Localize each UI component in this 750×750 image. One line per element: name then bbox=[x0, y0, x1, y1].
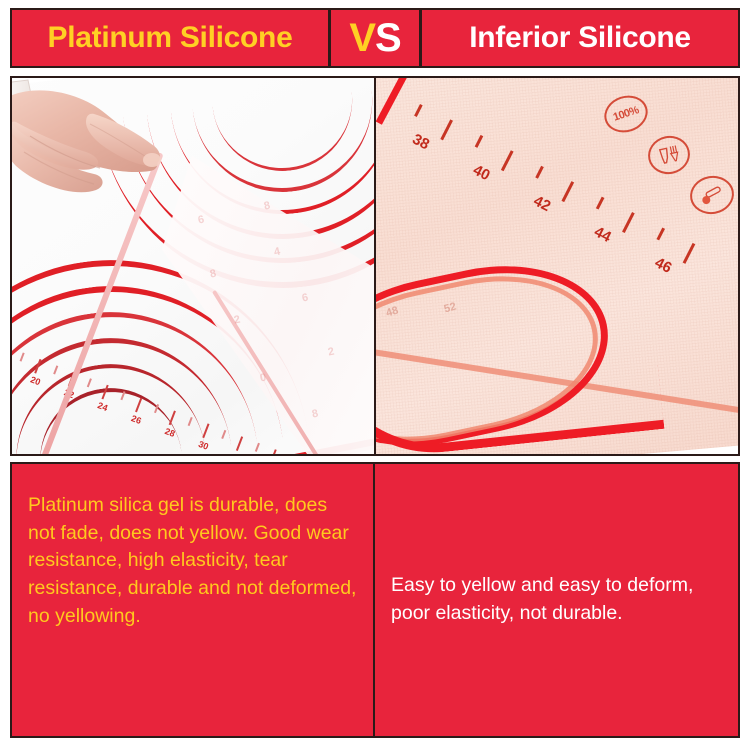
ruler-tick bbox=[34, 359, 41, 374]
hand-illustration bbox=[12, 78, 202, 228]
photo-row: 18 20 22 24 26 28 30 32 34 6 8 4 8 2 6 0… bbox=[10, 76, 740, 456]
ruler-tick bbox=[475, 135, 484, 148]
description-row: Platinum silica gel is durable, does not… bbox=[10, 462, 740, 738]
ruler-tick bbox=[202, 423, 209, 438]
ruler-tick bbox=[221, 430, 226, 439]
fork-glass-icon bbox=[656, 143, 682, 167]
ruler-tick bbox=[236, 436, 243, 451]
ruler-tick bbox=[622, 212, 635, 233]
ruler-tick bbox=[656, 227, 665, 240]
ruler-tick bbox=[188, 417, 193, 426]
platinum-description-panel: Platinum silica gel is durable, does not… bbox=[12, 464, 375, 736]
stamp-label: 100% bbox=[612, 104, 641, 123]
vs-s-letter: S bbox=[375, 16, 401, 60]
ruler-tick bbox=[501, 150, 514, 171]
header-left-title: Platinum Silicone bbox=[48, 23, 293, 53]
ruler-number: 42 bbox=[531, 192, 554, 215]
deformed-red-fold-strip bbox=[376, 231, 664, 454]
ruler-tick bbox=[87, 378, 92, 387]
ruler-tick bbox=[154, 404, 159, 413]
vs-label: VS bbox=[349, 18, 400, 58]
ruler-tick bbox=[683, 243, 696, 264]
ruler-tick bbox=[535, 166, 544, 179]
inferior-description-panel: Easy to yellow and easy to deform, poor … bbox=[375, 464, 738, 736]
ruler-tick bbox=[440, 119, 453, 140]
inferior-description-text: Easy to yellow and easy to deform, poor … bbox=[391, 572, 722, 627]
ruler-tick bbox=[120, 391, 125, 400]
ruler-number: 24 bbox=[96, 400, 109, 413]
ruler-tick bbox=[169, 411, 176, 426]
ruler-number: 26 bbox=[130, 413, 143, 426]
ruler-tick bbox=[101, 385, 108, 400]
ruler-number: 28 bbox=[163, 426, 176, 439]
ruler-number: 38 bbox=[410, 131, 433, 154]
header-vs-cell: VS bbox=[328, 10, 422, 66]
ruler-number: 40 bbox=[470, 162, 493, 185]
header-left-cell: Platinum Silicone bbox=[12, 10, 328, 66]
header-right-title: Inferior Silicone bbox=[469, 23, 691, 53]
header-right-cell: Inferior Silicone bbox=[422, 10, 738, 66]
ruler-tick bbox=[135, 398, 142, 413]
platinum-silicone-photo: 18 20 22 24 26 28 30 32 34 6 8 4 8 2 6 0… bbox=[12, 78, 376, 454]
ruler-tick bbox=[255, 443, 260, 452]
ruler-number: 30 bbox=[197, 439, 210, 452]
ruler-number: 32 bbox=[231, 452, 244, 454]
platinum-description-text: Platinum silica gel is durable, does not… bbox=[28, 492, 357, 630]
ruler-tick bbox=[269, 449, 276, 454]
thermometer-icon bbox=[697, 182, 726, 208]
ruler-tick bbox=[20, 352, 25, 361]
ruler-tick bbox=[596, 197, 605, 210]
header-bar: Platinum Silicone VS Inferior Silicone bbox=[10, 8, 740, 68]
comparison-infographic: Platinum Silicone VS Inferior Silicone bbox=[0, 0, 750, 750]
ruler-number: 46 bbox=[652, 254, 675, 277]
ruler-tick bbox=[53, 365, 58, 374]
vs-v-letter: V bbox=[349, 16, 375, 60]
inferior-silicone-photo: 38 40 42 44 46 48 52 100% bbox=[376, 78, 738, 454]
ruler-tick bbox=[561, 181, 574, 202]
ruler-number: 20 bbox=[29, 374, 42, 387]
